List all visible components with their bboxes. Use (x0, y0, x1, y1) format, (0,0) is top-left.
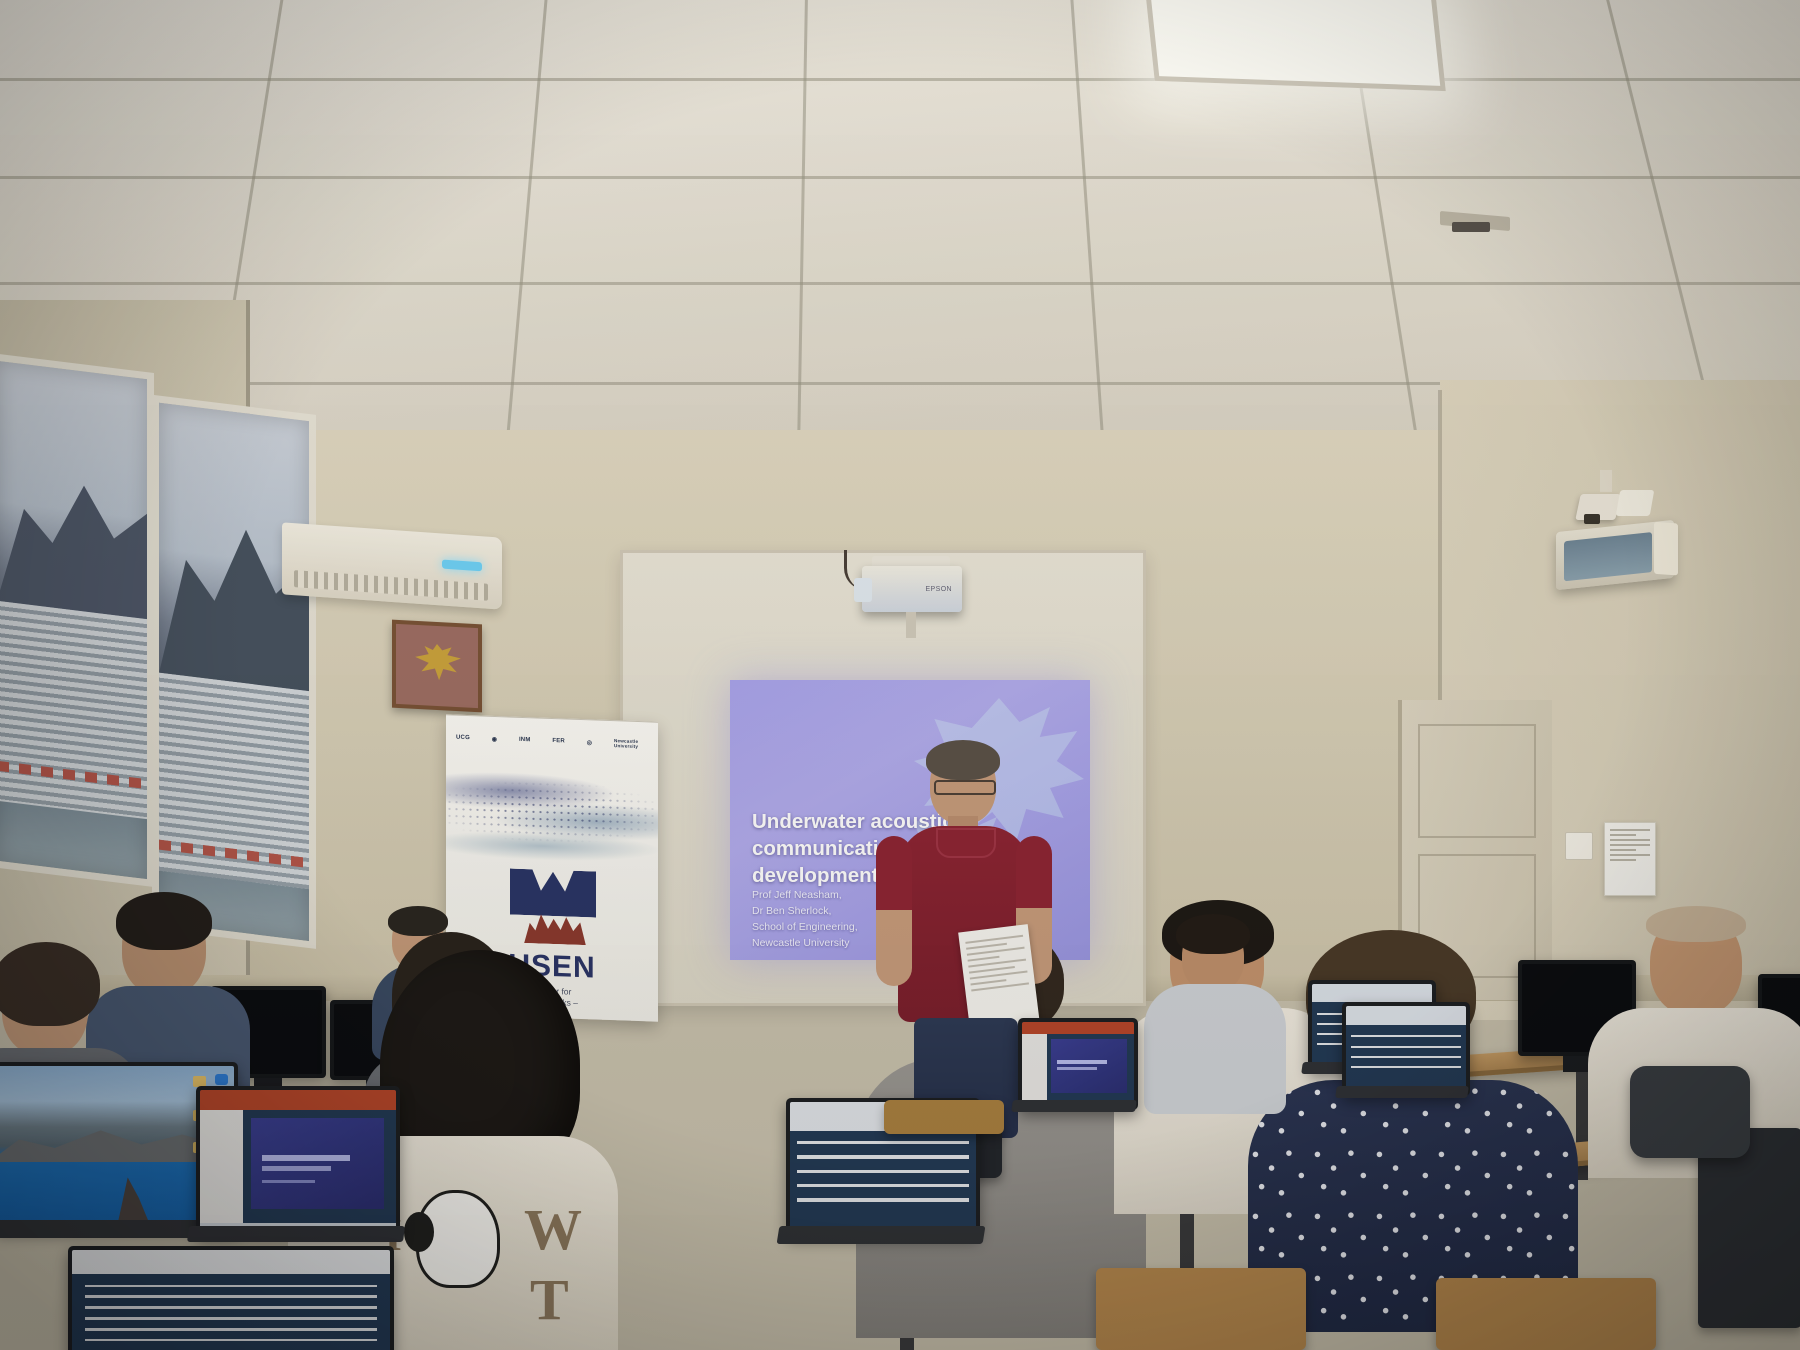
posted-notice (1604, 822, 1656, 896)
notice-line (1610, 834, 1636, 836)
ac-louver (294, 570, 488, 601)
banner-logo-row: UCG ◉ INM FER ◎ Newcastle University (456, 729, 650, 754)
attendee-right-back (1148, 918, 1278, 1108)
tshirt-letter-w: W (524, 1196, 582, 1263)
camera-body-2 (1616, 490, 1655, 516)
logo-ucg: UCG (456, 735, 470, 741)
logo-eu-icon: ◎ (587, 739, 592, 746)
presenter-collar (936, 828, 996, 858)
notice-line (1610, 839, 1650, 841)
logo-inm: INM (519, 737, 531, 743)
laptop-screen-spreadsheet (72, 1250, 390, 1350)
notice-line (1610, 849, 1636, 851)
camera-mount (1600, 470, 1612, 492)
ceiling-mounted-projector: EPSON (862, 556, 962, 618)
camera-lens (1584, 514, 1600, 524)
wall-mounted-unit (1556, 520, 1674, 590)
security-camera (1578, 486, 1652, 526)
laptop-screen-powerpoint (200, 1090, 396, 1232)
chair-far-right[interactable] (1698, 1128, 1800, 1328)
laptop-presenter-desk[interactable] (1018, 1018, 1138, 1128)
presenter-hair (926, 740, 1000, 780)
laptop-right-front[interactable] (1342, 1002, 1472, 1112)
window-kotor-view (0, 353, 350, 957)
chair-right[interactable] (1436, 1278, 1656, 1350)
light-switch[interactable] (1565, 832, 1593, 860)
projector-lens (854, 578, 872, 602)
logo-fer: FER (552, 738, 565, 744)
ceiling-light-panel (1144, 0, 1446, 91)
wall-unit-face (1564, 532, 1652, 581)
notice-line (1610, 829, 1650, 831)
chair-left[interactable] (884, 1100, 1004, 1134)
split-air-conditioner (282, 522, 502, 609)
presenter-handout (958, 924, 1040, 1032)
montenegro-coat-of-arms (392, 620, 482, 713)
notice-line (1610, 844, 1650, 846)
ceiling-sensor (1452, 222, 1490, 232)
tshirt-letter-t: T (530, 1266, 569, 1333)
chair-center[interactable] (1096, 1268, 1306, 1350)
ac-display-led (442, 559, 482, 571)
door-panel-upper (1418, 724, 1536, 838)
notice-line (1610, 859, 1636, 861)
classroom-photo: Underwater acoustic communication R&D de… (0, 0, 1800, 1350)
laptop-screen-spreadsheet-4 (1346, 1006, 1466, 1092)
projector-brand-label: EPSON (925, 586, 952, 593)
banner-wave-graphic (446, 756, 658, 871)
logo-orb-icon: ◉ (492, 735, 497, 742)
notice-line (1610, 854, 1650, 856)
laptop-screen-powerpoint-2 (1022, 1022, 1134, 1106)
presenter-left-arm (876, 836, 912, 986)
banner-network-logo (510, 869, 596, 918)
projector-body: EPSON (862, 566, 962, 612)
eagle-emblem (411, 643, 463, 690)
projector-arm (906, 612, 916, 638)
logo-newcastle: Newcastle University (614, 738, 650, 749)
backpack-right (1630, 1066, 1750, 1158)
laptop-foreground[interactable] (68, 1246, 398, 1350)
presenter-glasses (934, 780, 996, 795)
snoopy-ear (404, 1212, 434, 1252)
wall-unit-side (1654, 522, 1678, 576)
laptop-front-mid[interactable] (196, 1086, 406, 1266)
